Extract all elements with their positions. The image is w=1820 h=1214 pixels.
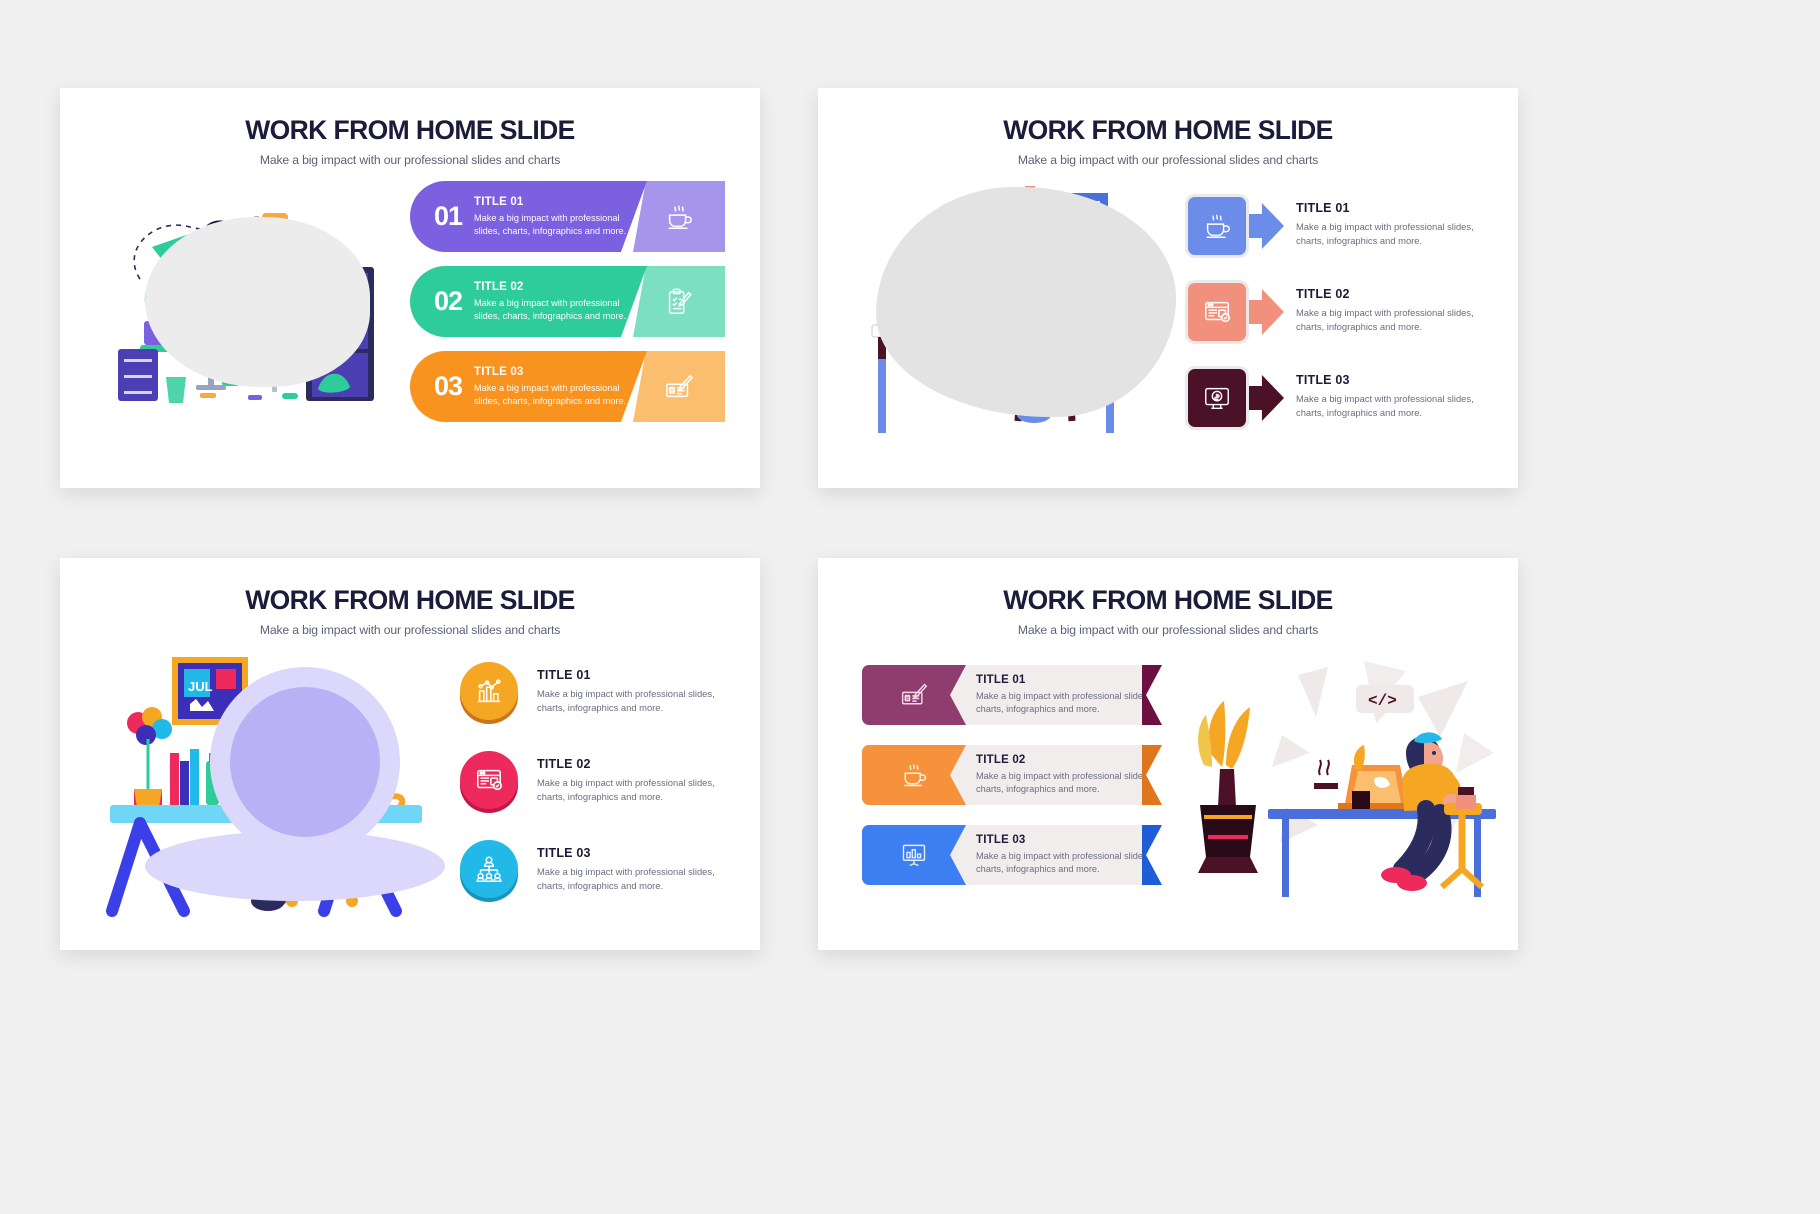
chevron-bar[interactable]: TITLE 02 Make a big impact with professi… xyxy=(862,745,1162,805)
slide-3-title: WORK FROM HOME SLIDE xyxy=(60,585,760,616)
icon-square xyxy=(1188,369,1246,427)
circle-icon-badge xyxy=(460,840,518,902)
icon-square xyxy=(1188,283,1246,341)
circle-item[interactable]: TITLE 02 Make a big impact with professi… xyxy=(460,751,735,813)
arrow-item-text: TITLE 02 Make a big impact with professi… xyxy=(1284,283,1498,333)
info-bar-desc: Make a big impact with professional slid… xyxy=(474,212,647,237)
info-bar-main: 03 TITLE 03 Make a big impact with profe… xyxy=(410,351,647,422)
coder-desk-illustration: </> xyxy=(1168,657,1498,917)
slide-4-subtitle: Make a big impact with our professional … xyxy=(818,623,1518,637)
slide-3-subtitle: Make a big impact with our professional … xyxy=(60,623,760,637)
info-bar-title: TITLE 02 xyxy=(474,281,647,293)
arrow-item-title: TITLE 02 xyxy=(1296,287,1498,301)
chevron-bar-body: TITLE 01 Make a big impact with professi… xyxy=(940,665,1162,725)
chevron-bar[interactable]: TITLE 01 Make a big impact with professi… xyxy=(862,665,1162,725)
info-bar[interactable]: 03 TITLE 03 Make a big impact with profe… xyxy=(410,351,725,422)
browser-badge-icon xyxy=(474,765,504,795)
slide-2-title: WORK FROM HOME SLIDE xyxy=(818,115,1518,146)
slide-4-bar-list: TITLE 01 Make a big impact with professi… xyxy=(862,665,1162,905)
illustration-blob xyxy=(145,217,370,387)
info-bar-icon-panel xyxy=(633,181,725,252)
circle-item-text: TITLE 03 Make a big impact with professi… xyxy=(518,840,735,892)
info-bar-title: TITLE 03 xyxy=(474,366,647,378)
circle-face xyxy=(460,840,518,898)
arrow-item-title: TITLE 03 xyxy=(1296,373,1498,387)
info-bar-text: TITLE 03 Make a big impact with professi… xyxy=(472,366,647,407)
arrow-item[interactable]: TITLE 02 Make a big impact with professi… xyxy=(1188,283,1498,341)
presentation-chart-icon xyxy=(900,841,928,869)
slide-3-item-list: TITLE 01 Make a big impact with professi… xyxy=(460,662,735,929)
arrow-item[interactable]: TITLE 03 Make a big impact with professi… xyxy=(1188,369,1498,427)
slide-1-title: WORK FROM HOME SLIDE xyxy=(60,115,760,146)
coffee-cup-icon xyxy=(1202,211,1232,241)
slide-1-bar-list: 01 TITLE 01 Make a big impact with profe… xyxy=(410,181,725,436)
chevron-bar-tail xyxy=(1142,665,1162,725)
slide-4-illustration: </> xyxy=(1168,657,1498,917)
info-bar-main: 02 TITLE 02 Make a big impact with profe… xyxy=(410,266,647,337)
check-payment-icon xyxy=(900,681,928,709)
info-bar-number: 01 xyxy=(424,201,472,232)
slide-1-illustration xyxy=(100,189,430,439)
slide-4-body: TITLE 01 Make a big impact with professi… xyxy=(818,637,1518,929)
circle-item-title: TITLE 03 xyxy=(537,846,735,860)
slide-1[interactable]: WORK FROM HOME SLIDE Make a big impact w… xyxy=(60,88,760,488)
illustration-blob xyxy=(876,187,1176,417)
circle-item-title: TITLE 01 xyxy=(537,668,735,682)
slides-canvas: WORK FROM HOME SLIDE Make a big impact w… xyxy=(0,0,1820,1214)
chevron-bar-desc: Make a big impact with professional slid… xyxy=(976,770,1162,796)
arrow-item-desc: Make a big impact with professional slid… xyxy=(1296,220,1498,247)
info-bar-number: 03 xyxy=(424,371,472,402)
slide-2[interactable]: WORK FROM HOME SLIDE Make a big impact w… xyxy=(818,88,1518,488)
arrow-item-text: TITLE 03 Make a big impact with professi… xyxy=(1284,369,1498,419)
icon-square xyxy=(1188,197,1246,255)
slide-4-title: WORK FROM HOME SLIDE xyxy=(818,585,1518,616)
info-bar[interactable]: 01 TITLE 01 Make a big impact with profe… xyxy=(410,181,725,252)
slide-1-body: 01 TITLE 01 Make a big impact with profe… xyxy=(60,167,760,467)
info-bar-text: TITLE 01 Make a big impact with professi… xyxy=(472,196,647,237)
circle-item[interactable]: TITLE 01 Make a big impact with professi… xyxy=(460,662,735,724)
info-bar-number: 02 xyxy=(424,286,472,317)
slide-1-subtitle: Make a big impact with our professional … xyxy=(60,153,760,167)
slide-3-body: JUL xyxy=(60,637,760,929)
arrow-item-title: TITLE 01 xyxy=(1296,201,1498,215)
circle-icon-badge xyxy=(460,751,518,813)
info-bar[interactable]: 02 TITLE 02 Make a big impact with profe… xyxy=(410,266,725,337)
svg-text:</>: </> xyxy=(1368,692,1397,710)
info-bar-main: 01 TITLE 01 Make a big impact with profe… xyxy=(410,181,647,252)
circle-item-text: TITLE 01 Make a big impact with professi… xyxy=(518,662,735,714)
chevron-bar[interactable]: TITLE 03 Make a big impact with professi… xyxy=(862,825,1162,885)
svg-text:JUL: JUL xyxy=(188,679,213,694)
chevron-bar-desc: Make a big impact with professional slid… xyxy=(976,690,1162,716)
arrow-item-text: TITLE 01 Make a big impact with professi… xyxy=(1284,197,1498,247)
check-payment-icon xyxy=(664,372,694,402)
chevron-bar-tail xyxy=(1142,745,1162,805)
circle-item-desc: Make a big impact with professional slid… xyxy=(537,865,735,892)
browser-badge-icon xyxy=(1202,297,1232,327)
arrow-icon-badge xyxy=(1188,283,1284,341)
circle-item-title: TITLE 02 xyxy=(537,757,735,771)
bar-chart-icon xyxy=(474,676,504,706)
info-bar-icon-panel xyxy=(633,266,725,337)
chevron-bar-body: TITLE 03 Make a big impact with professi… xyxy=(940,825,1162,885)
circle-item-desc: Make a big impact with professional slid… xyxy=(537,776,735,803)
org-chart-icon xyxy=(474,854,504,884)
slide-2-subtitle: Make a big impact with our professional … xyxy=(818,153,1518,167)
circle-face xyxy=(460,751,518,809)
slide-2-body: TITLE 01 Make a big impact with professi… xyxy=(818,167,1518,467)
info-bar-title: TITLE 01 xyxy=(474,196,647,208)
arrow-item[interactable]: TITLE 01 Make a big impact with professi… xyxy=(1188,197,1498,255)
chevron-bar-title: TITLE 03 xyxy=(976,834,1162,846)
info-bar-desc: Make a big impact with professional slid… xyxy=(474,297,647,322)
circle-item-text: TITLE 02 Make a big impact with professi… xyxy=(518,751,735,803)
arrow-item-desc: Make a big impact with professional slid… xyxy=(1296,306,1498,333)
coffee-cup-icon xyxy=(664,202,694,232)
chevron-bar-tail xyxy=(1142,825,1162,885)
slide-3[interactable]: WORK FROM HOME SLIDE Make a big impact w… xyxy=(60,558,760,950)
slide-2-item-list: TITLE 01 Make a big impact with professi… xyxy=(1188,197,1498,455)
slide-2-illustration xyxy=(838,175,1178,455)
info-bar-icon-panel xyxy=(633,351,725,422)
illustration-halo-inner xyxy=(230,687,380,837)
circle-item-desc: Make a big impact with professional slid… xyxy=(537,687,735,714)
arrow-item-desc: Make a big impact with professional slid… xyxy=(1296,392,1498,419)
chevron-bar-title: TITLE 02 xyxy=(976,754,1162,766)
slide-4[interactable]: WORK FROM HOME SLIDE Make a big impact w… xyxy=(818,558,1518,950)
clipboard-pen-icon xyxy=(664,287,694,317)
monitor-money-icon xyxy=(1202,383,1232,413)
chevron-bar-body: TITLE 02 Make a big impact with professi… xyxy=(940,745,1162,805)
coffee-cup-icon xyxy=(900,761,928,789)
circle-face xyxy=(460,662,518,720)
circle-icon-badge xyxy=(460,662,518,724)
arrow-icon-badge xyxy=(1188,369,1284,427)
slide-3-illustration: JUL xyxy=(100,649,460,924)
circle-item[interactable]: TITLE 03 Make a big impact with professi… xyxy=(460,840,735,902)
info-bar-desc: Make a big impact with professional slid… xyxy=(474,382,647,407)
chevron-bar-title: TITLE 01 xyxy=(976,674,1162,686)
chevron-bar-desc: Make a big impact with professional slid… xyxy=(976,850,1162,876)
arrow-icon-badge xyxy=(1188,197,1284,255)
info-bar-text: TITLE 02 Make a big impact with professi… xyxy=(472,281,647,322)
